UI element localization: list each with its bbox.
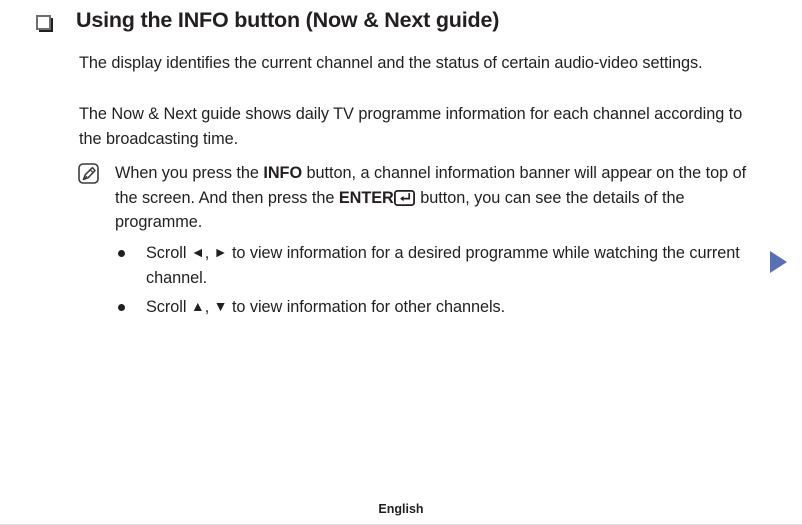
list-item-suffix: to view information for a desired progra… bbox=[146, 244, 740, 287]
list-item: Scroll ▲, ▼ to view information for othe… bbox=[118, 295, 768, 320]
note-pencil-icon bbox=[78, 163, 99, 184]
bullet-dot-icon bbox=[118, 250, 125, 257]
bullet-dot-icon bbox=[118, 304, 125, 311]
intro-paragraph-1: The display identifies the current chann… bbox=[79, 51, 755, 76]
footer-language-label: English bbox=[0, 502, 802, 516]
note-text: When you press the INFO button, a channe… bbox=[115, 161, 768, 235]
list-item-text: Scroll ▲, ▼ to view information for othe… bbox=[146, 295, 505, 320]
left-triangle-icon: ◄ bbox=[191, 245, 205, 259]
list-item-prefix: Scroll bbox=[146, 298, 191, 316]
note-enter-bold: ENTER bbox=[339, 189, 394, 207]
scroll-instruction-list: Scroll ◄, ► to view information for a de… bbox=[118, 241, 768, 324]
page-title: Using the INFO button (Now & Next guide) bbox=[76, 8, 499, 34]
document-page: Using the INFO button (Now & Next guide)… bbox=[0, 0, 802, 525]
list-item-separator: , bbox=[205, 244, 214, 262]
intro-paragraph-2: The Now & Next guide shows daily TV prog… bbox=[79, 102, 755, 152]
list-item: Scroll ◄, ► to view information for a de… bbox=[118, 241, 768, 291]
right-triangle-icon: ► bbox=[214, 245, 228, 259]
note-info-bold: INFO bbox=[263, 164, 302, 182]
list-item-suffix: to view information for other channels. bbox=[227, 298, 505, 316]
down-triangle-icon: ▼ bbox=[214, 299, 228, 313]
up-triangle-icon: ▲ bbox=[191, 299, 205, 313]
next-page-arrow-icon[interactable] bbox=[770, 251, 787, 273]
list-item-text: Scroll ◄, ► to view information for a de… bbox=[146, 241, 768, 291]
enter-key-icon bbox=[394, 189, 415, 205]
list-item-prefix: Scroll bbox=[146, 244, 191, 262]
list-item-separator: , bbox=[205, 298, 214, 316]
section-heading: Using the INFO button (Now & Next guide) bbox=[36, 8, 499, 34]
square-box-icon bbox=[36, 15, 51, 30]
note-text-part1: When you press the bbox=[115, 164, 263, 182]
note-block: When you press the INFO button, a channe… bbox=[78, 161, 768, 235]
